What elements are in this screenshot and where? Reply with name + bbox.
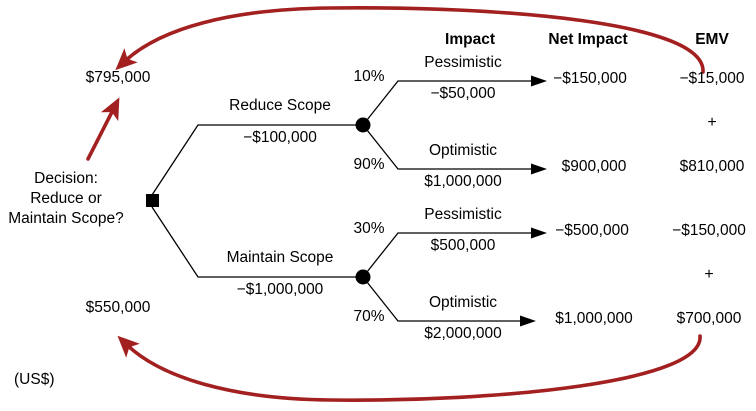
emv-reduce-optimistic: $810,000 xyxy=(680,157,745,176)
emv-maintain-pessimistic: −$150,000 xyxy=(672,221,746,240)
net-impact-reduce-pessimistic: −$150,000 xyxy=(553,69,627,88)
probability-reduce-optimistic: 90% xyxy=(353,155,384,174)
probability-reduce-pessimistic: 10% xyxy=(353,67,384,86)
impact-reduce-pessimistic: −$50,000 xyxy=(430,84,495,103)
chance-node-maintain-scope xyxy=(356,270,371,285)
branch-label-maintain-scope: Maintain Scope xyxy=(227,248,334,267)
units-note: (US$) xyxy=(14,370,54,389)
outcome-arrowhead-reduce-optimistic xyxy=(531,164,547,175)
column-header-impact: Impact xyxy=(445,30,495,49)
decision-tree-diagram: Impact Net Impact EMV Decision: Reduce o… xyxy=(0,0,756,411)
net-impact-maintain-optimistic: $1,000,000 xyxy=(555,309,633,328)
impact-reduce-optimistic: $1,000,000 xyxy=(424,172,502,191)
outcome-arrowhead-maintain-pessimistic xyxy=(531,228,547,239)
emv-operator-reduce-scope: + xyxy=(707,113,716,132)
rollup-value-reduce-scope: $795,000 xyxy=(86,68,151,87)
emv-maintain-optimistic: $700,000 xyxy=(677,309,742,328)
rollup-arrow-bottom xyxy=(126,336,700,400)
column-header-net-impact: Net Impact xyxy=(548,30,627,49)
probability-maintain-optimistic: 70% xyxy=(353,307,384,326)
column-header-emv: EMV xyxy=(695,30,729,49)
outcome-label-reduce-optimistic: Optimistic xyxy=(429,141,497,160)
emv-operator-maintain-scope: + xyxy=(704,265,713,284)
emv-reduce-pessimistic: −$15,000 xyxy=(679,69,744,88)
outcome-label-reduce-pessimistic: Pessimistic xyxy=(424,53,502,72)
outcome-label-maintain-optimistic: Optimistic xyxy=(429,293,497,312)
decision-node-label: Decision: Reduce or Maintain Scope? xyxy=(8,169,123,229)
outcome-label-maintain-pessimistic: Pessimistic xyxy=(424,205,502,224)
impact-maintain-pessimistic: $500,000 xyxy=(431,236,496,255)
rollup-value-maintain-scope: $550,000 xyxy=(86,298,151,317)
outcome-arrowhead-maintain-optimistic xyxy=(520,316,536,327)
net-impact-maintain-pessimistic: −$500,000 xyxy=(555,221,629,240)
impact-maintain-optimistic: $2,000,000 xyxy=(424,324,502,343)
outcome-arrowhead-reduce-pessimistic xyxy=(531,76,547,87)
branch-cost-reduce-scope: −$100,000 xyxy=(243,128,317,147)
decision-node-square xyxy=(146,194,159,207)
chance-node-reduce-scope xyxy=(356,118,371,133)
probability-maintain-pessimistic: 30% xyxy=(353,219,384,238)
decision-selection-arrow xyxy=(88,108,114,159)
net-impact-reduce-optimistic: $900,000 xyxy=(562,157,627,176)
branch-label-reduce-scope: Reduce Scope xyxy=(229,96,331,115)
branch-cost-maintain-scope: −$1,000,000 xyxy=(237,280,324,299)
